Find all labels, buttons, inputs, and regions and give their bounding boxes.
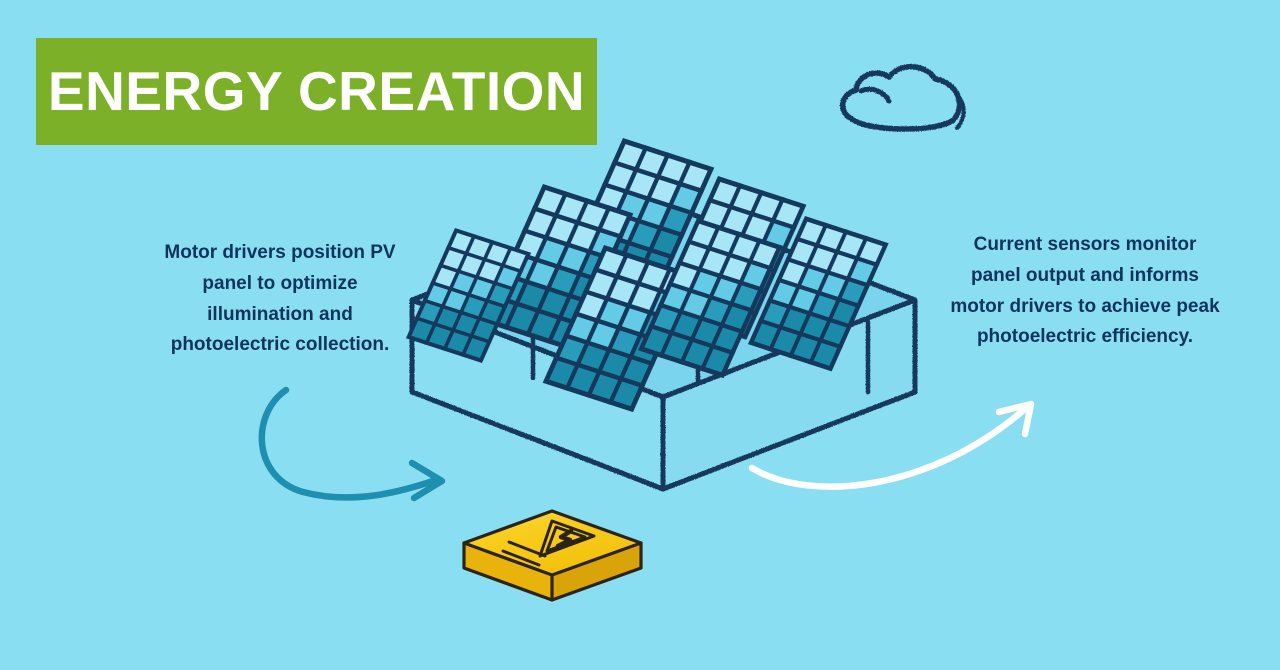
title-banner: ENERGY CREATION (36, 38, 597, 145)
callout-right-text: Current sensors monitor panel output and… (950, 230, 1220, 353)
callout-left-text: Motor drivers position PV panel to optim… (150, 238, 410, 361)
page-title: ENERGY CREATION (48, 64, 585, 119)
infographic-canvas: ENERGY CREATION Motor drivers position P… (0, 0, 1280, 670)
